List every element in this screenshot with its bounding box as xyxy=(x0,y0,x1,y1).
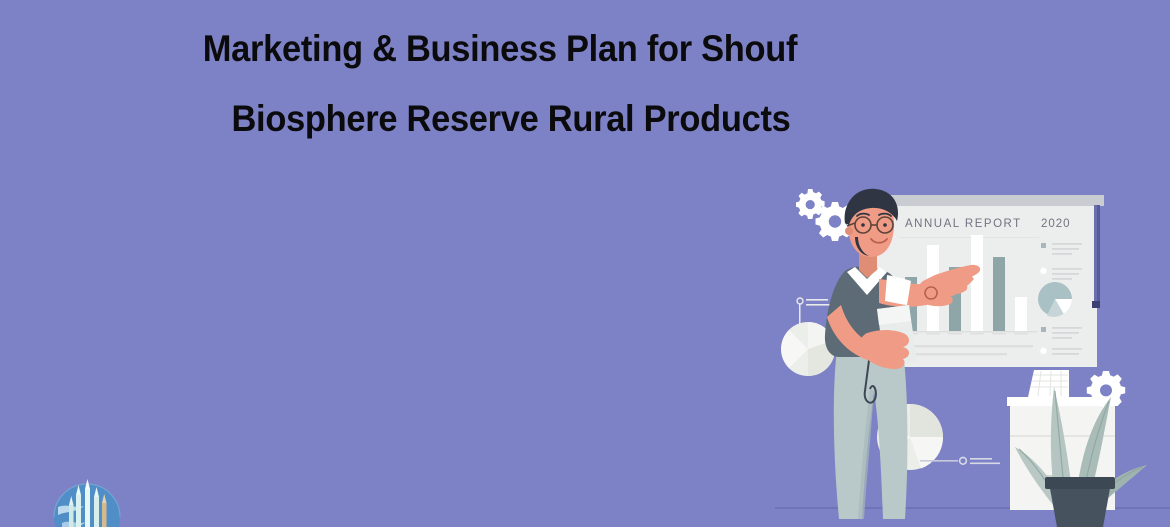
plant-pot-rim xyxy=(1045,477,1115,489)
presenter-trousers xyxy=(834,350,908,519)
page-title: Marketing & Business Plan for Shouf Bios… xyxy=(0,0,1000,154)
whiteboard-rail-knob xyxy=(1092,301,1100,308)
whiteboard-year: 2020 xyxy=(1041,218,1071,230)
page-title-line-2: Biosphere Reserve Rural Products xyxy=(56,84,966,154)
whiteboard-divider xyxy=(899,237,1039,238)
whiteboard-frame-top xyxy=(860,195,1104,206)
chart-axis xyxy=(899,331,1037,333)
gear-small-icon xyxy=(796,189,825,219)
paper-stack xyxy=(1028,370,1069,397)
business-presentation-illustration: ANNUAL REPORT 2020 xyxy=(775,175,1170,527)
organization-logo xyxy=(46,477,128,527)
plant-pot xyxy=(1049,483,1111,527)
page-title-line-1: Marketing & Business Plan for Shouf xyxy=(35,14,965,84)
whiteboard-side-rail-2 xyxy=(1097,205,1100,305)
whiteboard-heading: ANNUAL REPORT xyxy=(905,218,1022,230)
